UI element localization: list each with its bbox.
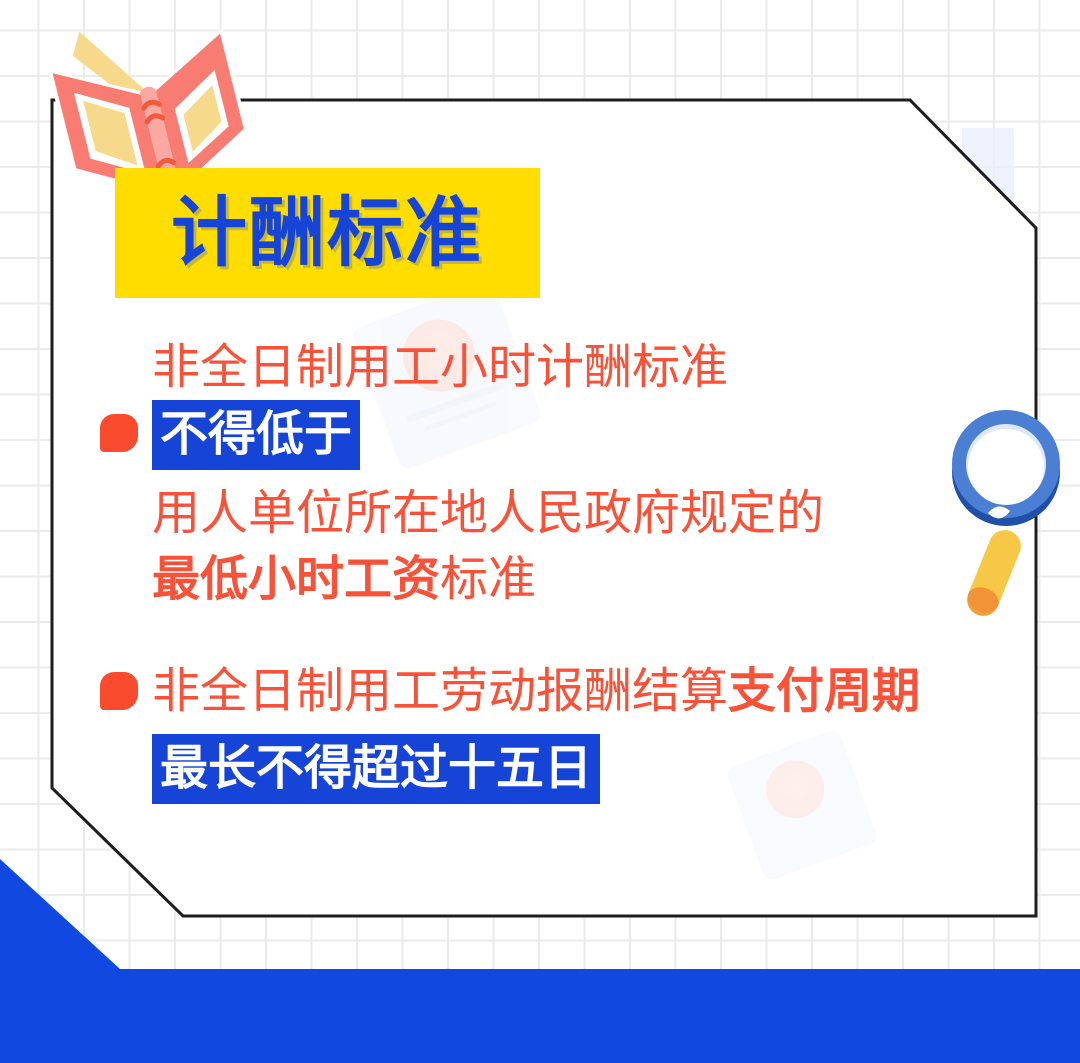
- line-text: 非全日制用工小时计酬标准: [152, 334, 728, 400]
- line-text: 用人单位所在地人民政府规定的: [152, 480, 824, 546]
- emphasis-text: 支付周期: [728, 658, 920, 724]
- text-line-with-bullet: 不得低于: [100, 400, 1000, 470]
- square-bullet-icon: [100, 672, 138, 710]
- text-line: 最低小时工资 标准: [100, 546, 1000, 612]
- page-title: 计酬标准: [171, 195, 483, 271]
- line-text-tail: 标准: [440, 546, 536, 612]
- text-line: 最长不得超过十五日: [100, 734, 1000, 804]
- text-line: 用人单位所在地人民政府规定的: [100, 480, 1000, 546]
- highlight-phrase: 最长不得超过十五日: [152, 734, 600, 804]
- spacer: [100, 470, 1000, 480]
- spacer: [100, 612, 1000, 658]
- spacer: [100, 724, 1000, 734]
- body-content: 非全日制用工小时计酬标准 不得低于 用人单位所在地人民政府规定的 最低小时工资 …: [100, 334, 1000, 804]
- line-text: 非全日制用工劳动报酬结算: [152, 658, 728, 724]
- title-banner: 计酬标准: [115, 168, 540, 298]
- highlight-phrase: 不得低于: [152, 400, 360, 470]
- square-bullet-icon: [100, 414, 138, 452]
- bullet-item-settlement-cycle: 非全日制用工劳动报酬结算 支付周期 最长不得超过十五日: [100, 658, 1000, 804]
- footer-blue-band: [0, 843, 1080, 1063]
- emphasis-text: 最低小时工资: [152, 546, 440, 612]
- poster-root: 计酬标准 非全日制用工小时计酬标准 不得低于 用人单位所在地人民政府规定的 最低…: [0, 0, 1080, 1063]
- bullet-item-hourly-pay-standard: 非全日制用工小时计酬标准 不得低于 用人单位所在地人民政府规定的 最低小时工资 …: [100, 334, 1000, 612]
- text-line-with-bullet: 非全日制用工劳动报酬结算 支付周期: [100, 658, 1000, 724]
- text-line: 非全日制用工小时计酬标准: [100, 334, 1000, 400]
